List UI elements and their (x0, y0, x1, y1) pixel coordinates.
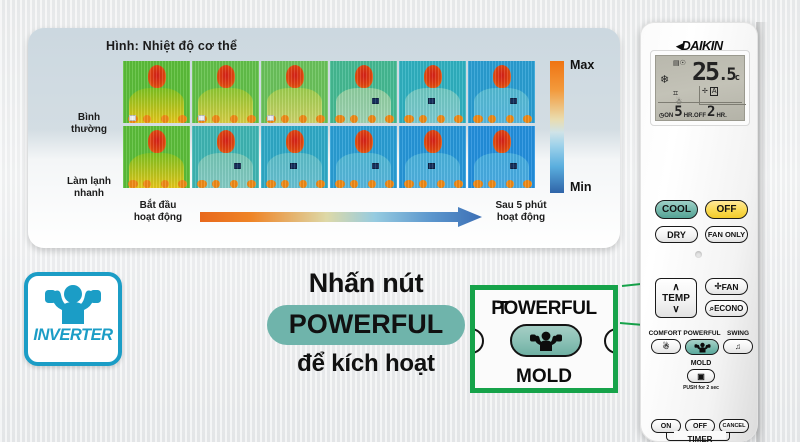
temp-stepper-button[interactable]: ∧ TEMP ∨ (655, 278, 697, 318)
callout-line-3: để kích hoạt (255, 349, 477, 379)
temp-label: TEMP (662, 293, 690, 304)
thermal-scanlines (192, 126, 259, 188)
off-button[interactable]: OFF (705, 200, 748, 219)
row-label-normal: Bình thường (58, 112, 120, 136)
thermal-scanlines (261, 126, 328, 188)
thermal-scanlines (123, 61, 190, 123)
mold-label: MOLD (679, 360, 723, 367)
thermal-image (192, 61, 259, 123)
lcd-mini-indicator-icon: ▤☉ (673, 59, 686, 67)
temperature-scale-bar (550, 61, 564, 193)
thermal-row-normal (123, 61, 537, 123)
swing-label: SWING (721, 330, 755, 337)
thermal-image (330, 126, 397, 188)
scale-max-label: Max (570, 58, 594, 72)
thermal-image (261, 61, 328, 123)
footer-start-line2: hoạt động (118, 212, 198, 224)
comfort-person-icon: ☃ (662, 342, 669, 351)
mold-icon: ▣ (697, 372, 705, 381)
lcd-fan-auto-icon: ✢ A (702, 87, 718, 95)
lcd-timer-on-value: 5 (674, 106, 682, 119)
flex-person-icon (694, 342, 711, 353)
econo-button[interactable]: ⌕ECONO (705, 300, 748, 317)
powerful-label: POWERFUL (682, 330, 722, 337)
footer-label-start: Bắt đầu hoạt động (118, 200, 198, 224)
lcd-auto-badge: A (710, 87, 719, 96)
lcd-temp-integer: 25 (692, 57, 718, 86)
row-label-normal-line1: Bình (58, 112, 120, 124)
lcd-timer-off-label: OFF (694, 113, 706, 119)
thermal-scanlines (468, 61, 535, 123)
remote-indicator-dot (695, 251, 702, 258)
inverter-label: INVERTER (33, 326, 112, 345)
inverter-figure-icon (42, 283, 104, 325)
lcd-temp-decimal: .5 (718, 65, 734, 85)
thermal-scanlines (330, 61, 397, 123)
row-label-fast-line1: Làm lạnh (58, 176, 120, 188)
fan-icon: ✢ (714, 281, 721, 292)
thermal-image (261, 126, 328, 188)
swing-icon: ♫ (735, 342, 741, 351)
mold-hint-label: PUSH for 2 sec (673, 385, 729, 391)
thermal-scanlines (468, 126, 535, 188)
thermal-image-grid (123, 61, 537, 188)
powerful-button-zoom-box: T POWERFUL MOLD (470, 285, 618, 393)
flex-person-icon (529, 330, 563, 352)
thermal-image (468, 61, 535, 123)
powerful-button[interactable] (685, 339, 719, 355)
thermal-scanlines (399, 126, 466, 188)
comfort-label: COMFORT (647, 330, 683, 337)
lcd-timer-on-unit: HR. (684, 113, 694, 119)
thermal-image (123, 126, 190, 188)
cool-button[interactable]: COOL (655, 200, 698, 219)
zoom-powerful-button[interactable] (510, 324, 582, 357)
row-label-fast: Làm lạnh nhanh (58, 176, 120, 200)
lcd-temperature: 25.5c (692, 57, 738, 86)
scale-min-label: Min (570, 180, 592, 194)
thermal-row-fast (123, 126, 537, 188)
row-label-fast-line2: nhanh (58, 188, 120, 200)
fan-label: FAN (722, 282, 739, 292)
thermal-scanlines (192, 61, 259, 123)
zoom-neighbor-button-right (604, 328, 618, 354)
panel-title: Hình: Nhiệt độ cơ thể (106, 39, 237, 53)
thermal-scanlines (123, 126, 190, 188)
timer-label: TIMER (673, 435, 727, 442)
lcd-timer-row: ◷ ON 5 HR. OFF 2 HR. (658, 102, 742, 119)
thermal-image (330, 61, 397, 123)
thermal-comparison-panel: Hình: Nhiệt độ cơ thể Bình thường Làm lạ… (28, 28, 620, 248)
zoom-neighbor-button-left (470, 328, 484, 354)
footer-after-line2: hoạt động (480, 212, 562, 224)
footer-start-line1: Bắt đầu (118, 200, 198, 212)
inverter-badge: INVERTER (24, 272, 122, 366)
zoom-powerful-label: POWERFUL (475, 298, 613, 320)
fan-button[interactable]: ✢FAN (705, 278, 748, 295)
comfort-button[interactable]: ☃ (651, 339, 681, 354)
callout-powerful-pill: POWERFUL (267, 305, 466, 345)
thermal-image (399, 126, 466, 188)
thermal-image (399, 61, 466, 123)
lcd-timer-off-unit: HR. (716, 113, 726, 119)
lcd-timer-off-value: 2 (707, 106, 715, 119)
zoom-mold-label: MOLD (475, 366, 613, 388)
temp-down-icon[interactable]: ∨ (672, 304, 679, 315)
daikin-remote-control: ◂DAIKIN ▤☉ ❄ 25.5c ✢ A ⌗ ☃ ◷ ON 5 HR. OF… (640, 22, 758, 442)
row-label-normal-line2: thường (58, 124, 120, 136)
footer-after-line1: Sau 5 phút (480, 200, 562, 212)
fan-only-button[interactable]: FAN ONLY (705, 226, 748, 243)
swing-button[interactable]: ♫ (723, 339, 753, 354)
temp-up-icon[interactable]: ∧ (672, 282, 679, 293)
thermal-scanlines (330, 126, 397, 188)
thermal-image (468, 126, 535, 188)
lcd-display: ▤☉ ❄ 25.5c ✢ A ⌗ ☃ ◷ ON 5 HR. OFF 2 HR. (655, 55, 745, 121)
thermal-image (123, 61, 190, 123)
callout-instruction: Nhấn nút POWERFUL để kích hoạt (255, 266, 477, 379)
econo-label: ECONO (714, 304, 743, 313)
snowflake-icon: ❄ (660, 73, 669, 86)
time-progress-arrow (200, 207, 482, 227)
lcd-temp-unit: c (735, 73, 738, 83)
dry-button[interactable]: DRY (655, 226, 698, 243)
thermal-scanlines (399, 61, 466, 123)
mold-button[interactable]: ▣ (687, 369, 715, 383)
lcd-timer-on-label: ON (664, 113, 673, 119)
callout-line-1: Nhấn nút (255, 266, 477, 300)
footer-label-after: Sau 5 phút hoạt động (480, 200, 562, 224)
thermal-image (192, 126, 259, 188)
thermal-scanlines (261, 61, 328, 123)
